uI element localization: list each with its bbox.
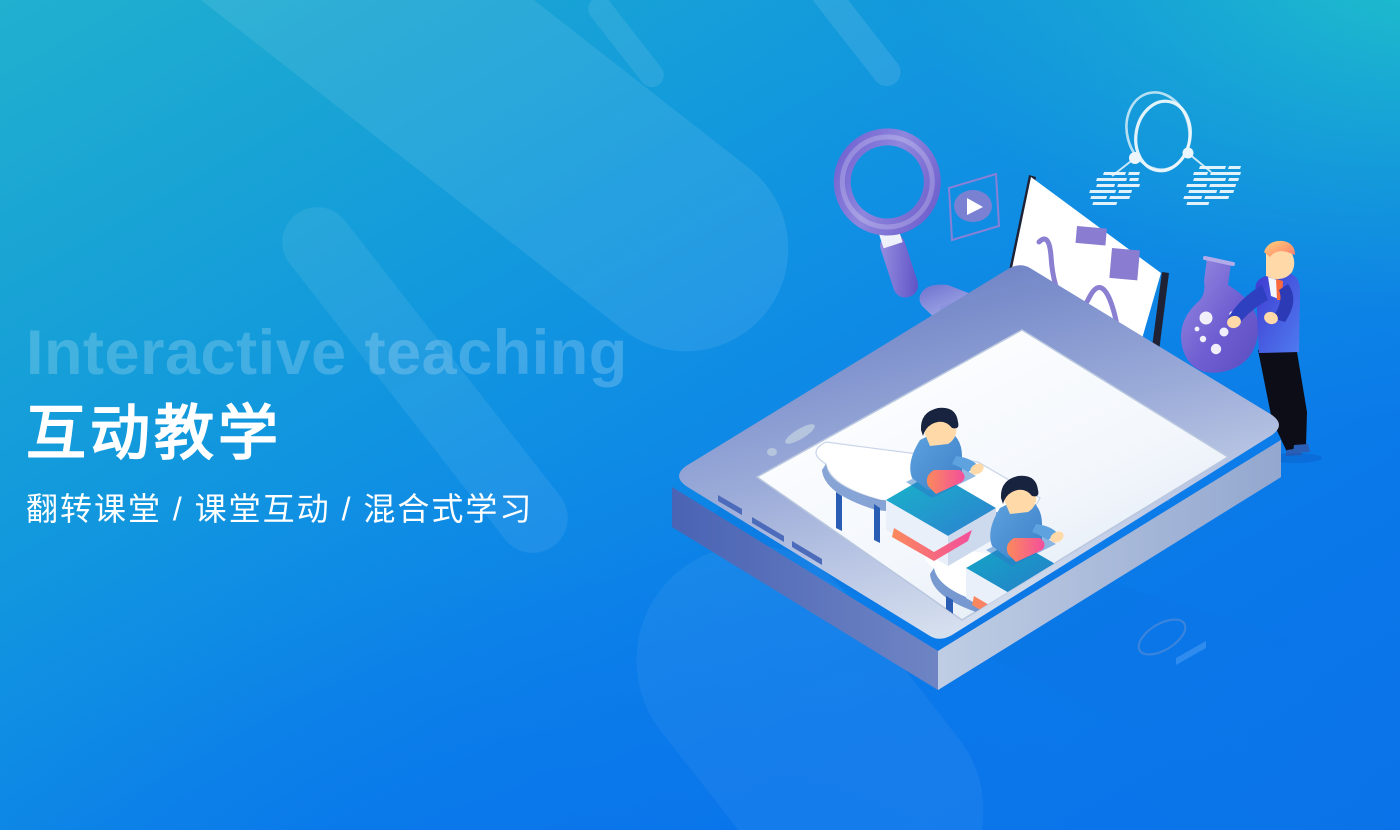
banner-root: Interactive teaching 互动教学 翻转课堂 / 课堂互动 / … (0, 0, 1400, 830)
page-title: 互动教学 (26, 399, 726, 468)
ghost-title: Interactive teaching (26, 322, 726, 385)
page-subtitle: 翻转课堂 / 课堂互动 / 混合式学习 (26, 490, 726, 528)
headline-block: Interactive teaching 互动教学 翻转课堂 / 课堂互动 / … (26, 322, 726, 528)
